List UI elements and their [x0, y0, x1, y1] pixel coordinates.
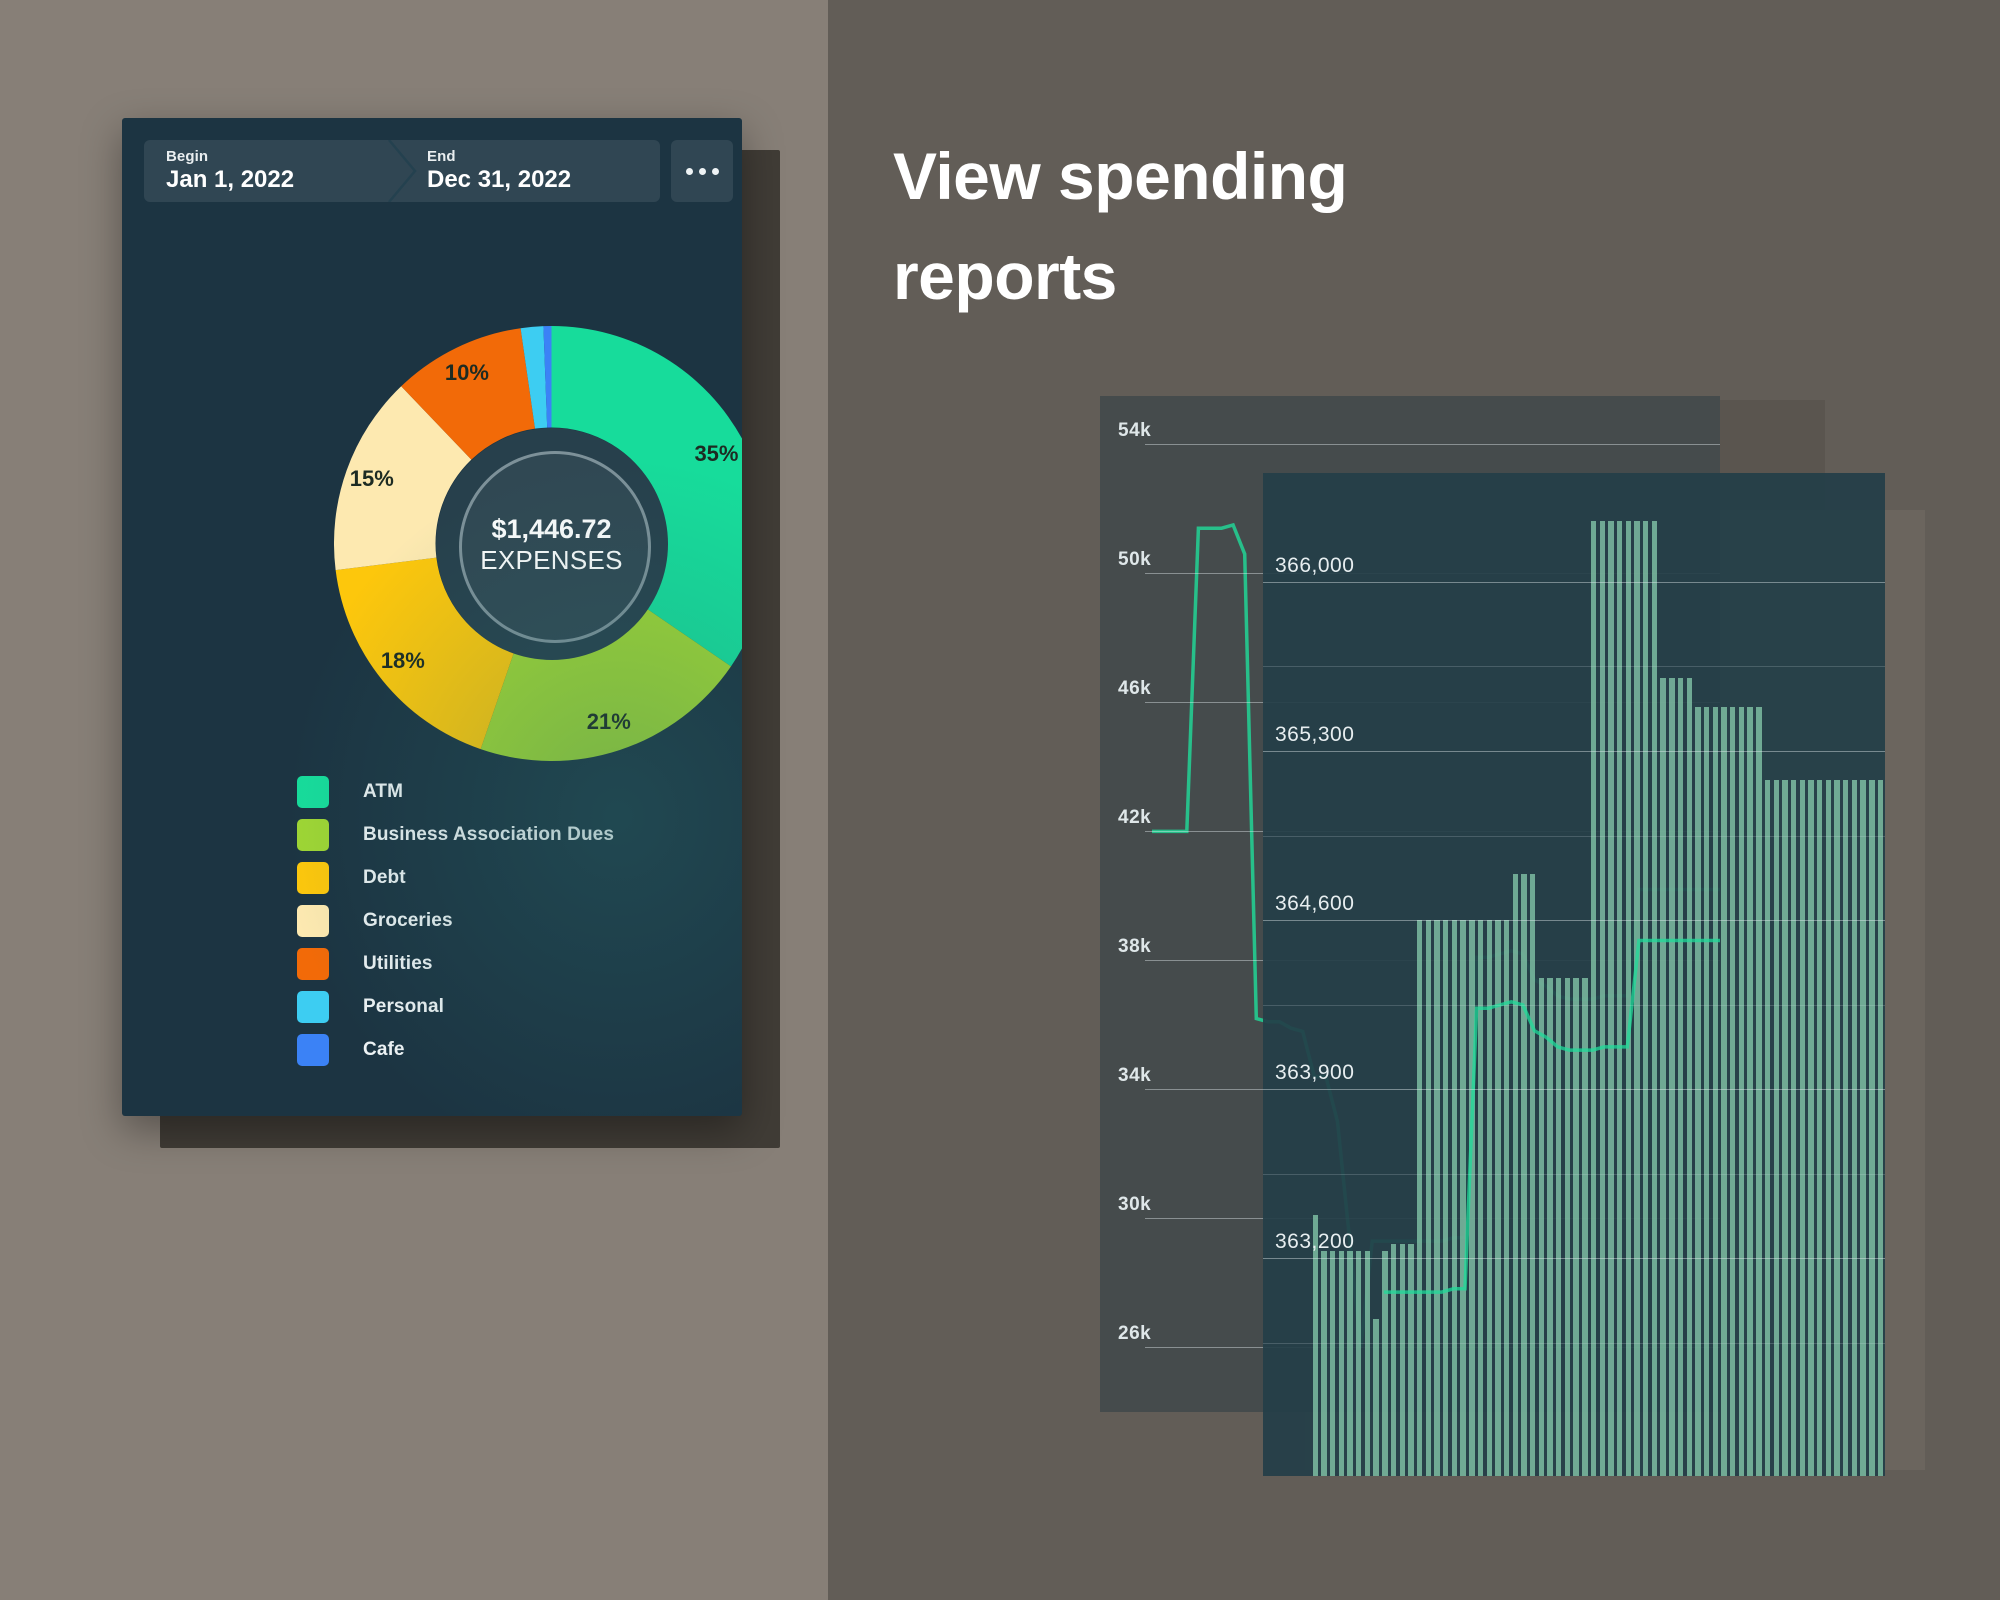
- legend-color-swatch: [297, 776, 329, 808]
- ellipsis-icon: [699, 168, 706, 175]
- legend-row[interactable]: Business Association Dues300: [297, 813, 742, 856]
- legend-color-swatch: [297, 819, 329, 851]
- y-axis-tick-label: 54k: [1118, 420, 1151, 442]
- headline-line-2: reports: [893, 239, 1117, 313]
- donut-center: $1,446.72 EXPENSES: [436, 428, 668, 660]
- legend-category-name: Groceries: [363, 910, 742, 932]
- legend-category-name: Cafe: [363, 1039, 742, 1061]
- gridline: [1263, 751, 1885, 752]
- y-axis-tick-label: 364,600: [1275, 892, 1354, 916]
- legend-row[interactable]: Debt257.99: [297, 856, 742, 899]
- gridline-minor: [1263, 666, 1885, 667]
- legend-row[interactable]: Cafe8.67: [297, 1028, 742, 1071]
- legend-color-swatch: [297, 991, 329, 1023]
- overlay-line-path: [1384, 941, 1720, 1293]
- headline-line-1: View spending: [893, 139, 1347, 213]
- legend-category-name: Personal: [363, 996, 742, 1018]
- y-axis-tick-label: 50k: [1118, 549, 1151, 571]
- donut-total-amount: $1,446.72: [491, 513, 611, 545]
- gridline-minor: [1263, 1343, 1885, 1344]
- donut-total-label: EXPENSES: [480, 545, 623, 575]
- y-axis-tick-label: 38k: [1118, 936, 1151, 958]
- phone-card: Begin Jan 1, 2022 End Dec 31, 2022 $1,44…: [122, 118, 742, 1116]
- y-axis-tick-label: 363,200: [1275, 1230, 1354, 1254]
- donut-percent-label: 18%: [381, 648, 425, 674]
- date-range-begin-label: Begin: [166, 149, 399, 164]
- y-axis-tick-label: 366,000: [1275, 554, 1354, 578]
- y-axis-tick-label: 46k: [1118, 678, 1151, 700]
- y-axis-tick-label: 42k: [1118, 807, 1151, 829]
- legend-color-swatch: [297, 1034, 329, 1066]
- page-headline: View spending reports: [893, 126, 1613, 327]
- donut-percent-label: 35%: [694, 441, 738, 467]
- legend-color-swatch: [297, 905, 329, 937]
- legend-category-name: ATM: [363, 781, 742, 803]
- y-axis-tick-label: 365,300: [1275, 723, 1354, 747]
- date-range-begin[interactable]: Begin Jan 1, 2022: [144, 140, 399, 202]
- ellipsis-icon: [712, 168, 719, 175]
- legend-category-name: Utilities: [363, 953, 742, 975]
- legend-color-swatch: [297, 948, 329, 980]
- legend-row[interactable]: ATM500: [297, 770, 742, 813]
- date-range-end-label: End: [427, 149, 660, 164]
- y-axis-tick-label: 363,900: [1275, 1061, 1354, 1085]
- gridline: [1145, 444, 1720, 445]
- y-axis-tick-label: 30k: [1118, 1194, 1151, 1216]
- legend-row[interactable]: Groceries215.06: [297, 899, 742, 942]
- date-range-begin-value: Jan 1, 2022: [166, 165, 399, 195]
- donut-percent-label: 10%: [445, 360, 489, 386]
- ellipsis-icon: [686, 168, 693, 175]
- date-range-end-value: Dec 31, 2022: [427, 165, 660, 195]
- gridline-minor: [1263, 836, 1885, 837]
- legend-category-name: Debt: [363, 867, 742, 889]
- expense-category-legend: ATM500Business Association Dues300Debt25…: [297, 770, 742, 1071]
- donut-percent-label: 21%: [587, 709, 631, 735]
- gridline-minor: [1263, 1174, 1885, 1175]
- date-range-selector[interactable]: Begin Jan 1, 2022 End Dec 31, 2022: [144, 140, 660, 202]
- y-axis-tick-label: 34k: [1118, 1065, 1151, 1087]
- spending-bar-chart-panel[interactable]: 366,000365,300364,600363,900363,200: [1263, 473, 1885, 1476]
- legend-row[interactable]: Utilities140: [297, 942, 742, 985]
- gridline: [1263, 1089, 1885, 1090]
- gridline: [1263, 582, 1885, 583]
- expenses-donut-chart[interactable]: $1,446.72 EXPENSES 35%21%18%15%10%: [334, 326, 742, 761]
- gridline: [1263, 1258, 1885, 1259]
- gridline-minor: [1263, 1005, 1885, 1006]
- date-range-end[interactable]: End Dec 31, 2022: [399, 140, 660, 202]
- y-axis-tick-label: 26k: [1118, 1323, 1151, 1345]
- legend-color-swatch: [297, 862, 329, 894]
- legend-row[interactable]: Personal25: [297, 985, 742, 1028]
- donut-percent-label: 15%: [350, 466, 394, 492]
- gridline: [1263, 920, 1885, 921]
- overlay-line-svg: [1263, 473, 1885, 1476]
- more-options-button[interactable]: [671, 140, 733, 202]
- legend-category-name: Business Association Dues: [363, 824, 742, 846]
